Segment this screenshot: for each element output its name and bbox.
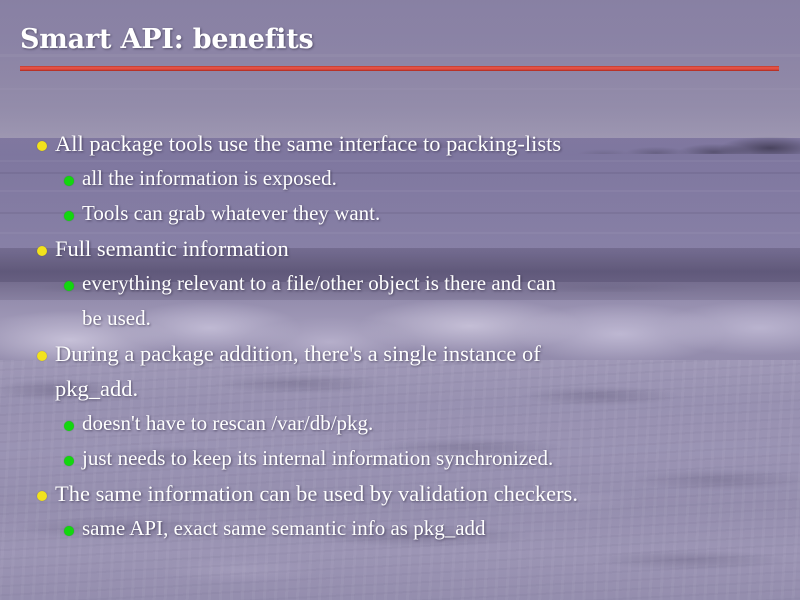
bullet-text: Full semantic information <box>55 236 289 261</box>
bullet-text: all the information is exposed. <box>82 166 337 190</box>
bullet-item-level2: all the information is exposed. <box>0 161 800 196</box>
bullet-dot-yellow-icon <box>37 246 47 256</box>
bullet-dot-yellow-icon <box>37 351 47 361</box>
bullet-dot-green-icon <box>64 421 74 431</box>
bullet-item-level2: just needs to keep its internal informat… <box>0 441 800 476</box>
bullet-item-level2: everything relevant to a file/other obje… <box>0 266 800 301</box>
bullet-text: everything relevant to a file/other obje… <box>82 271 556 295</box>
bullet-item-level1: During a package addition, there's a sin… <box>0 336 800 371</box>
bullet-text: pkg_add. <box>55 376 138 401</box>
bullet-text: be used. <box>82 306 151 330</box>
bullet-item-level2: doesn't have to rescan /var/db/pkg. <box>0 406 800 441</box>
slide-title: Smart API: benefits <box>20 24 314 56</box>
bullet-text: Tools can grab whatever they want. <box>82 201 380 225</box>
bullet-item-wrapped-line: be used. <box>0 301 800 336</box>
bullet-text: During a package addition, there's a sin… <box>55 341 541 366</box>
bullet-item-wrapped-line: pkg_add. <box>0 371 800 406</box>
presentation-slide: Smart API: benefits All package tools us… <box>0 0 800 600</box>
bullet-list: All package tools use the same interface… <box>0 126 800 546</box>
bullet-text: same API, exact same semantic info as pk… <box>82 516 486 540</box>
bullet-text: just needs to keep its internal informat… <box>82 446 553 470</box>
bullet-text: The same information can be used by vali… <box>55 481 578 506</box>
bullet-dot-yellow-icon <box>37 141 47 151</box>
bullet-dot-yellow-icon <box>37 491 47 501</box>
bullet-item-level2: same API, exact same semantic info as pk… <box>0 511 800 546</box>
bullet-dot-green-icon <box>64 281 74 291</box>
bullet-item-level2: Tools can grab whatever they want. <box>0 196 800 231</box>
bullet-dot-green-icon <box>64 456 74 466</box>
bullet-dot-green-icon <box>64 176 74 186</box>
slide-content: Smart API: benefits All package tools us… <box>0 0 800 600</box>
bullet-dot-green-icon <box>64 526 74 536</box>
bullet-item-level1: Full semantic information <box>0 231 800 266</box>
bullet-item-level1: The same information can be used by vali… <box>0 476 800 511</box>
title-underline-rule <box>20 66 779 71</box>
bullet-text: All package tools use the same interface… <box>55 131 561 156</box>
bullet-item-level1: All package tools use the same interface… <box>0 126 800 161</box>
bullet-text: doesn't have to rescan /var/db/pkg. <box>82 411 373 435</box>
bullet-dot-green-icon <box>64 211 74 221</box>
